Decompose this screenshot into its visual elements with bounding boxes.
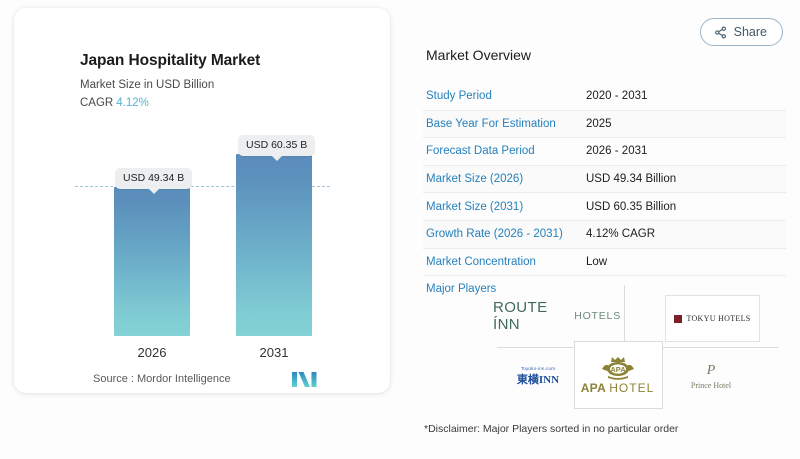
table-row: Study Period 2020 - 2031 [423,83,786,111]
route-inn-secondary-text: HOTELS [570,310,621,322]
table-row: Market Size (2026) USD 49.34 Billion [423,166,786,194]
table-cell-value: 2020 - 2031 [586,90,647,102]
share-button[interactable]: Share [700,18,783,46]
table-cell-key: Forecast Data Period [423,145,586,157]
bar-2031[interactable] [236,154,312,336]
apa-name-text: APA HOTEL [581,381,655,395]
table-cell-key: Base Year For Estimation [423,118,586,130]
table-row: Market Concentration Low [423,249,786,277]
table-cell-key: Growth Rate (2026 - 2031) [423,228,586,240]
chart-card: Japan Hospitality Market Market Size in … [14,8,390,393]
table-cell-key: Market Size (2031) [423,201,586,213]
table-cell-value: 2026 - 2031 [586,145,647,157]
prince-name-text: Prince Hotel [691,378,731,390]
prince-hotel-logo: P Prince Hotel [671,359,751,395]
table-cell-value: 2025 [586,118,612,130]
share-nodes-icon [714,26,727,39]
chart-source: Source : Mordor Intelligence [93,373,231,385]
market-overview-title: Market Overview [426,47,531,63]
players-disclaimer: *Disclaimer: Major Players sorted in no … [424,423,678,435]
tokyu-square-mark-icon [674,315,682,323]
svg-text:APA: APA [610,364,626,373]
apa-crest-icon: APA [598,355,638,381]
toyoko-primary-text: 東横INN [517,371,559,387]
table-cell-value: Low [586,256,607,268]
table-row: Market Size (2031) USD 60.35 Billion [423,193,786,221]
major-players-logo-collage: ROUTE ÍNN HOTELS TOKYU HOTELS Toyoko-inn… [489,285,786,407]
table-row: Base Year For Estimation 2025 [423,111,786,139]
x-axis-tick-2026: 2026 [114,345,190,360]
table-cell-value: 4.12% CAGR [586,228,655,240]
table-row: Growth Rate (2026 - 2031) 4.12% CAGR [423,221,786,249]
apa-hotel-logo: APA APA HOTEL [575,343,660,406]
table-cell-key: Market Size (2026) [423,173,586,185]
table-cell-key: Market Concentration [423,256,586,268]
market-snapshot-page: Japan Hospitality Market Market Size in … [0,0,800,459]
table-cell-key: Study Period [423,90,586,102]
market-overview-table: Study Period 2020 - 2031 Base Year For E… [423,83,786,276]
prince-monogram-text: P [707,364,716,378]
table-cell-value: USD 49.34 Billion [586,173,676,185]
bar-label-2031: USD 60.35 B [238,135,315,156]
bar-chart-plot: USD 49.34 B USD 60.35 B 2026 2031 [14,8,390,393]
share-button-label: Share [734,25,767,39]
bar-2026[interactable] [114,187,190,336]
bar-label-2026: USD 49.34 B [115,168,192,189]
major-players-title: Major Players [426,283,496,295]
route-inn-hotels-logo: ROUTE ÍNN HOTELS [493,299,621,333]
route-inn-primary-text: ROUTE ÍNN [493,299,570,333]
tokyu-hotels-logo: TOKYU HOTELS [665,295,760,342]
x-axis-tick-2031: 2031 [236,345,312,360]
collage-vertical-divider [624,285,625,347]
table-cell-value: USD 60.35 Billion [586,201,676,213]
tokyu-primary-text: TOKYU HOTELS [686,314,750,323]
toyoko-inn-logo: Toyoko-inn.com 東横INN [499,357,577,395]
table-row: Forecast Data Period 2026 - 2031 [423,138,786,166]
mordor-intelligence-logo [292,371,318,387]
